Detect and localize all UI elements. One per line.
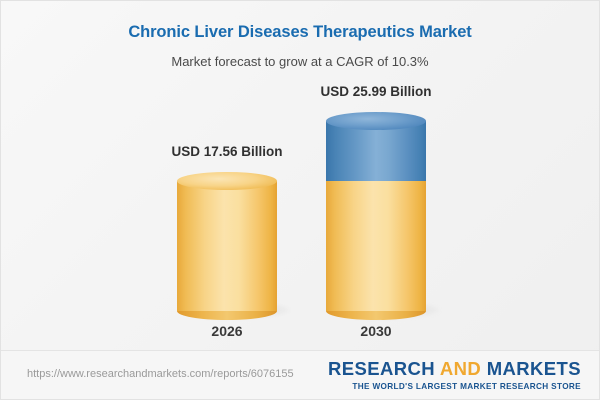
bar-segment-base-2030 [326, 181, 426, 311]
bar-value-label-2030: USD 25.99 Billion [286, 84, 466, 99]
cylinder-2026 [177, 181, 277, 311]
cylinder-2030 [326, 121, 426, 311]
bar-value-label-2026: USD 17.56 Billion [137, 144, 317, 159]
category-label-2030: 2030 [326, 323, 426, 339]
logo-word-and: AND [440, 358, 487, 379]
logo-wordmark: RESEARCH AND MARKETS [328, 360, 581, 379]
brand-logo[interactable]: RESEARCH AND MARKETS THE WORLD'S LARGEST… [328, 360, 581, 391]
footer: https://www.researchandmarkets.com/repor… [1, 350, 599, 399]
bar-segment-base-2026 [177, 181, 277, 311]
cylinder-body [326, 181, 426, 311]
cylinder-body [177, 181, 277, 311]
logo-word-research: RESEARCH [328, 358, 440, 379]
chart-plot-area: USD 17.56 Billion USD 25.99 Billion [1, 1, 600, 353]
market-forecast-card: Chronic Liver Diseases Therapeutics Mark… [0, 0, 600, 400]
bar-segment-growth-2030 [326, 121, 426, 181]
category-label-2026: 2026 [177, 323, 277, 339]
logo-tagline: THE WORLD'S LARGEST MARKET RESEARCH STOR… [328, 383, 581, 391]
cylinder-top-ellipse [326, 112, 426, 130]
logo-word-markets: MARKETS [487, 358, 581, 379]
cylinder-body [326, 121, 426, 181]
cylinder-top-ellipse [177, 172, 277, 190]
report-url-link[interactable]: https://www.researchandmarkets.com/repor… [27, 368, 294, 380]
